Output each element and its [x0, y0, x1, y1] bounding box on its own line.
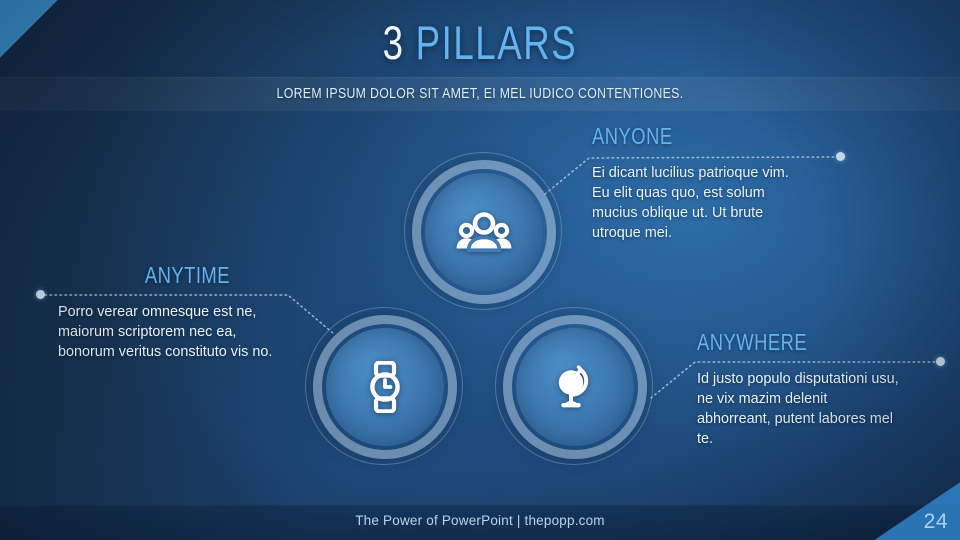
pillar-heading-anywhere: ANYWHERE: [697, 329, 861, 355]
title-number: 3: [383, 16, 405, 69]
node-dot-anyone: [836, 152, 845, 161]
node-dot-anywhere: [936, 357, 945, 366]
pillar-text-anywhere: ANYWHERE Id justo populo disputationi us…: [697, 329, 902, 449]
page-title: 3 PILLARS: [106, 14, 855, 72]
pillar-text-anyone: ANYONE Ei dicant lucilius patrioque vim.…: [592, 123, 807, 243]
corner-accent-top-left: [0, 0, 58, 58]
pillar-body-anytime: Porro verear omnesque est ne, maiorum sc…: [58, 302, 273, 362]
pillar-circle-anytime[interactable]: [305, 307, 465, 467]
title-word: PILLARS: [416, 16, 578, 69]
pillar-heading-anytime: ANYTIME: [58, 262, 230, 288]
pillar-circle-anywhere[interactable]: [495, 307, 655, 467]
page-number: 24: [924, 510, 948, 534]
pillar-body-anyone: Ei dicant lucilius patrioque vim. Eu eli…: [592, 163, 807, 243]
desk-globe-icon: [516, 328, 634, 446]
subtitle: LOREM IPSUM DOLOR SIT AMET, EI MEL IUDIC…: [86, 84, 873, 103]
slide-canvas: 3 PILLARS LOREM IPSUM DOLOR SIT AMET, EI…: [0, 0, 960, 540]
pillar-body-anywhere: Id justo populo disputationi usu, ne vix…: [697, 369, 902, 449]
pillar-circle-anyone[interactable]: [404, 152, 564, 312]
pillar-text-anytime: ANYTIME Porro verear omnesque est ne, ma…: [58, 262, 273, 362]
people-group-icon: [425, 173, 543, 291]
footer-credit: The Power of PowerPoint | thepopp.com: [0, 512, 960, 530]
wristwatch-icon: [326, 328, 444, 446]
pillar-heading-anyone: ANYONE: [592, 123, 764, 149]
node-dot-anytime: [36, 290, 45, 299]
